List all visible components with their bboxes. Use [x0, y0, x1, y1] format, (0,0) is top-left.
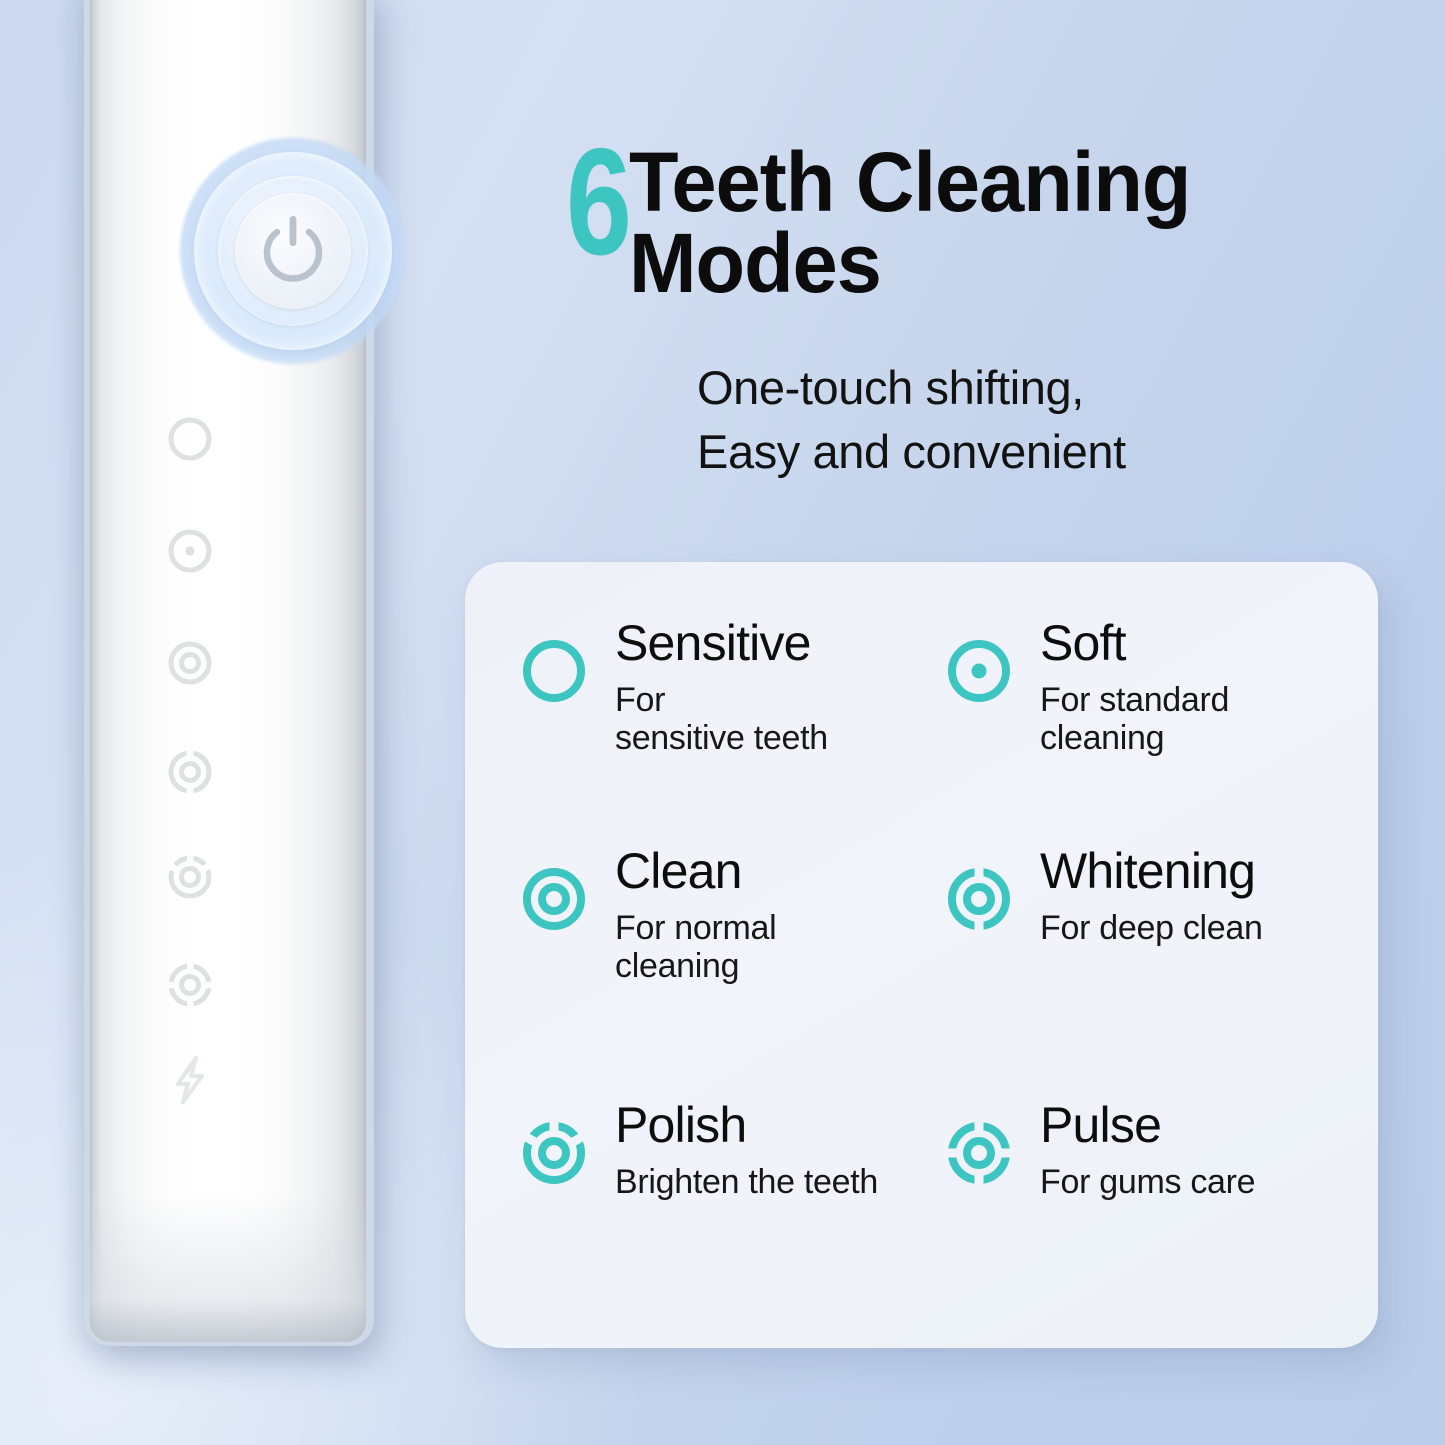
mode-description: For deep clean — [1040, 909, 1263, 947]
handle-indicator-pulse — [62, 956, 338, 1014]
mode-name: Sensitive — [615, 618, 828, 669]
mode-description: For standard cleaning — [1040, 681, 1229, 757]
handle-indicator-clean — [62, 634, 338, 692]
double-ring-icon — [161, 634, 219, 692]
subheading-line-1: One-touch shifting, — [697, 356, 1126, 420]
mode-item-soft[interactable]: Soft For standard cleaning — [908, 562, 1378, 824]
double-ring-2gap-icon — [161, 743, 219, 801]
mode-item-clean[interactable]: Clean For normal cleaning — [465, 824, 908, 1086]
mode-name: Pulse — [1040, 1100, 1255, 1151]
handle-indicator-battery — [62, 1051, 338, 1109]
subheading: One-touch shifting, Easy and convenient — [697, 356, 1126, 485]
double-ring-3gap-icon — [161, 848, 219, 906]
mode-description-line-2: cleaning — [1040, 719, 1229, 757]
mode-description-line-1: For — [615, 681, 828, 719]
power-button[interactable] — [180, 138, 406, 364]
headline-line-1: Teeth Cleaning — [629, 142, 1190, 223]
double-ring-4gap-icon — [940, 1114, 1018, 1192]
mode-count-number: 6 — [566, 134, 629, 271]
power-icon — [253, 210, 333, 292]
mode-description-line-1: For standard — [1040, 681, 1229, 719]
mode-description-line-1: For gums care — [1040, 1163, 1255, 1201]
handle-indicator-whitening — [62, 743, 338, 801]
handle-indicator-polish — [62, 848, 338, 906]
mode-description-line-1: Brighten the teeth — [615, 1163, 878, 1201]
ring-dot-icon — [161, 522, 219, 580]
handle-indicator-sensitive — [62, 410, 338, 468]
page-title: 6 Teeth Cleaning Modes — [566, 134, 1406, 305]
mode-name: Clean — [615, 846, 776, 897]
modes-panel: Sensitive For sensitive teeth Soft For s… — [465, 562, 1378, 1348]
mode-description: For normal cleaning — [615, 909, 776, 985]
mode-item-polish[interactable]: Polish Brighten the teeth — [465, 1086, 908, 1348]
double-ring-4gap-icon — [161, 956, 219, 1014]
double-ring-3gap-icon — [515, 1114, 593, 1192]
headline-line-2: Modes — [629, 223, 1190, 304]
ring-icon — [515, 632, 593, 710]
mode-description: For sensitive teeth — [615, 681, 828, 757]
mode-description-line-1: For normal — [615, 909, 776, 947]
toothbrush-handle — [62, 0, 392, 1360]
subheading-line-2: Easy and convenient — [697, 420, 1126, 484]
ring-icon — [161, 410, 219, 468]
headline-text: Teeth Cleaning Modes — [629, 134, 1190, 305]
mode-item-sensitive[interactable]: Sensitive For sensitive teeth — [465, 562, 908, 824]
mode-name: Soft — [1040, 618, 1229, 669]
double-ring-icon — [515, 860, 593, 938]
mode-description: Brighten the teeth — [615, 1163, 878, 1201]
mode-item-whitening[interactable]: Whitening For deep clean — [908, 824, 1378, 1086]
mode-name: Whitening — [1040, 846, 1263, 897]
mode-description-line-2: sensitive teeth — [615, 719, 828, 757]
lightning-bolt-icon — [161, 1051, 219, 1109]
mode-description: For gums care — [1040, 1163, 1255, 1201]
mode-item-pulse[interactable]: Pulse For gums care — [908, 1086, 1378, 1348]
handle-indicator-soft — [62, 522, 338, 580]
mode-description-line-2: cleaning — [615, 947, 776, 985]
double-ring-2gap-icon — [940, 860, 1018, 938]
mode-description-line-1: For deep clean — [1040, 909, 1263, 947]
ring-dot-icon — [940, 632, 1018, 710]
mode-name: Polish — [615, 1100, 878, 1151]
